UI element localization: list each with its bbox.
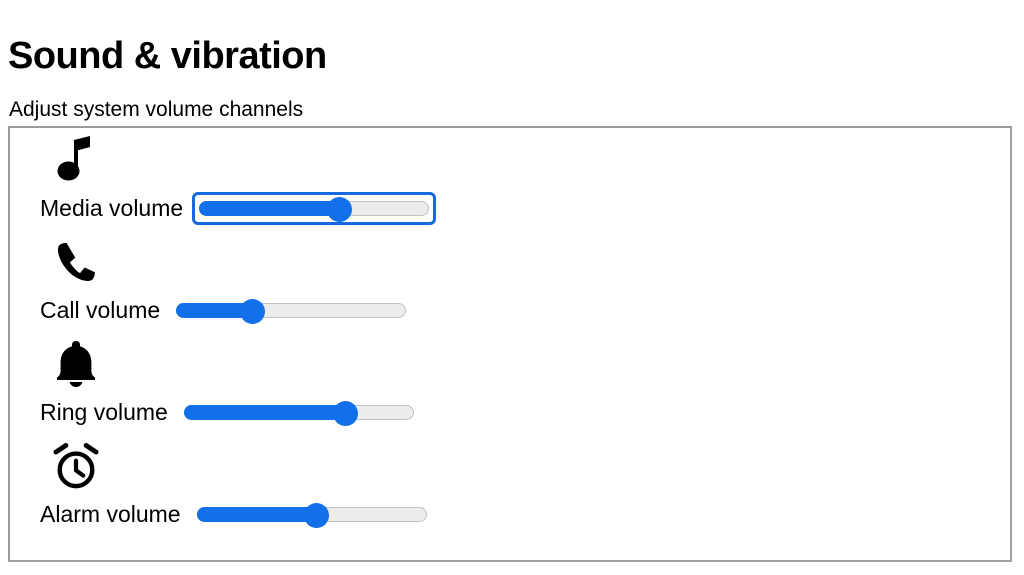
channel-label-media: Media volume: [40, 193, 192, 223]
channel-control-media: Media volume: [40, 186, 436, 230]
volume-slider-media[interactable]: [199, 200, 429, 217]
channel-row-ring: Ring volume: [10, 334, 1010, 434]
bell-icon: [50, 338, 102, 390]
slider-focus-ring-alarm: [190, 498, 434, 531]
volume-slider-alarm[interactable]: [197, 506, 427, 523]
slider-focus-ring-call: [169, 294, 413, 327]
channel-row-media: Media volume: [10, 130, 1010, 230]
channel-label-alarm: Alarm volume: [40, 499, 190, 529]
music-note-icon: [50, 134, 102, 186]
sound-vibration-page: Sound & vibration Adjust system volume c…: [0, 0, 1024, 575]
channel-label-ring: Ring volume: [40, 397, 177, 427]
channel-label-call: Call volume: [40, 295, 169, 325]
slider-thumb-call[interactable]: [240, 299, 265, 324]
volume-channels-panel: Media volumeCall volumeRing volumeAlarm …: [8, 126, 1012, 562]
slider-thumb-alarm[interactable]: [304, 503, 329, 528]
slider-fill-media: [199, 201, 339, 216]
channel-control-call: Call volume: [40, 288, 413, 332]
channel-control-ring: Ring volume: [40, 390, 421, 434]
slider-thumb-ring[interactable]: [333, 401, 358, 426]
slider-focus-ring-media: [192, 192, 436, 225]
channel-control-alarm: Alarm volume: [40, 492, 434, 536]
alarm-clock-icon: [50, 440, 102, 492]
volume-slider-ring[interactable]: [184, 404, 414, 421]
channel-row-alarm: Alarm volume: [10, 436, 1010, 536]
slider-fill-alarm: [197, 507, 317, 522]
slider-fill-ring: [184, 405, 345, 420]
phone-icon: [50, 236, 102, 288]
volume-slider-call[interactable]: [176, 302, 406, 319]
slider-thumb-media[interactable]: [327, 197, 352, 222]
channel-row-call: Call volume: [10, 232, 1010, 332]
slider-focus-ring-ring: [177, 396, 421, 429]
section-subtitle: Adjust system volume channels: [9, 96, 303, 124]
page-title: Sound & vibration: [8, 33, 327, 79]
